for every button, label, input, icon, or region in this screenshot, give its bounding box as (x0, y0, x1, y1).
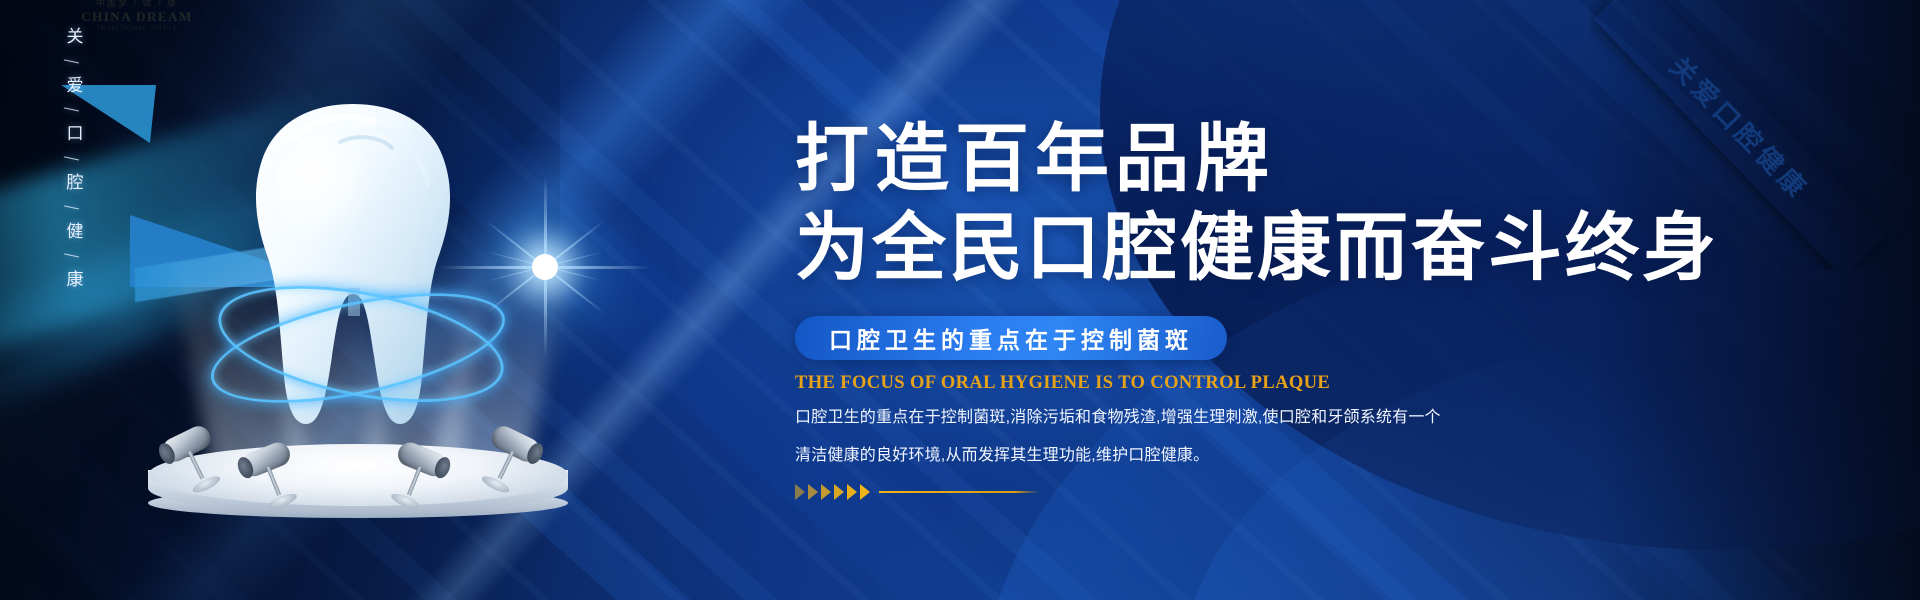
chevron-divider (795, 484, 1805, 500)
vertical-slogan-separator: — (61, 142, 89, 176)
vertical-slogan-separator: — (61, 239, 89, 273)
spotlight-stem (498, 451, 515, 480)
english-subtitle: THE FOCUS OF ORAL HYGIENE IS TO CONTROL … (795, 373, 1805, 394)
stage-platform (148, 444, 568, 522)
vertical-slogan-separator: — (61, 45, 89, 79)
spotlight-stem (266, 466, 281, 495)
chevron-icon (795, 484, 805, 500)
body-paragraph-line-1: 口腔卫生的重点在于控制菌斑,消除污垢和食物残渣,增强生理刺激,使口腔和牙颌系统有… (795, 403, 1475, 433)
body-paragraph-line-2: 清洁健康的良好环境,从而发挥其生理功能,维护口腔健康。 (795, 441, 1475, 471)
vertical-slogan: 关 — 爱 — 口 — 腔 — 健 — 康 (52, 28, 98, 290)
chevron-icon (847, 484, 857, 500)
watermark-en-text: CHINA DREAM (62, 9, 212, 25)
dental-health-banner: 中国梦 / 健 / 康 CHINA DREAM TRADITIONAL VIRT… (0, 0, 1920, 600)
tooth-illustration (140, 80, 590, 530)
chevron-icon (834, 484, 844, 500)
spotlight-stem (187, 451, 204, 480)
headline-line-1: 打造百年品牌 (795, 118, 1805, 201)
vertical-slogan-char: 腔 (67, 174, 84, 193)
watermark-cn-text: 中国梦 / 健 / 康 (62, 0, 212, 9)
vertical-slogan-separator: — (61, 93, 89, 127)
headline-line-2: 为全民口腔健康而奋斗终身 (795, 207, 1805, 290)
vertical-slogan-char: 关 (67, 28, 84, 47)
vertical-slogan-char: 口 (67, 125, 84, 144)
spotlight-stem (407, 466, 422, 495)
vertical-slogan-char: 康 (67, 271, 84, 290)
chevron-icon (860, 484, 870, 500)
vertical-slogan-separator: — (61, 191, 89, 225)
tagline-badge[interactable]: 口腔卫生的重点在于控制菌斑 (795, 316, 1227, 360)
chevron-icon (808, 484, 818, 500)
text-content-block: 打造百年品牌 为全民口腔健康而奋斗终身 口腔卫生的重点在于控制菌斑 THE FO… (795, 118, 1805, 500)
chevron-icon (821, 484, 831, 500)
chevron-rule (879, 491, 1039, 494)
